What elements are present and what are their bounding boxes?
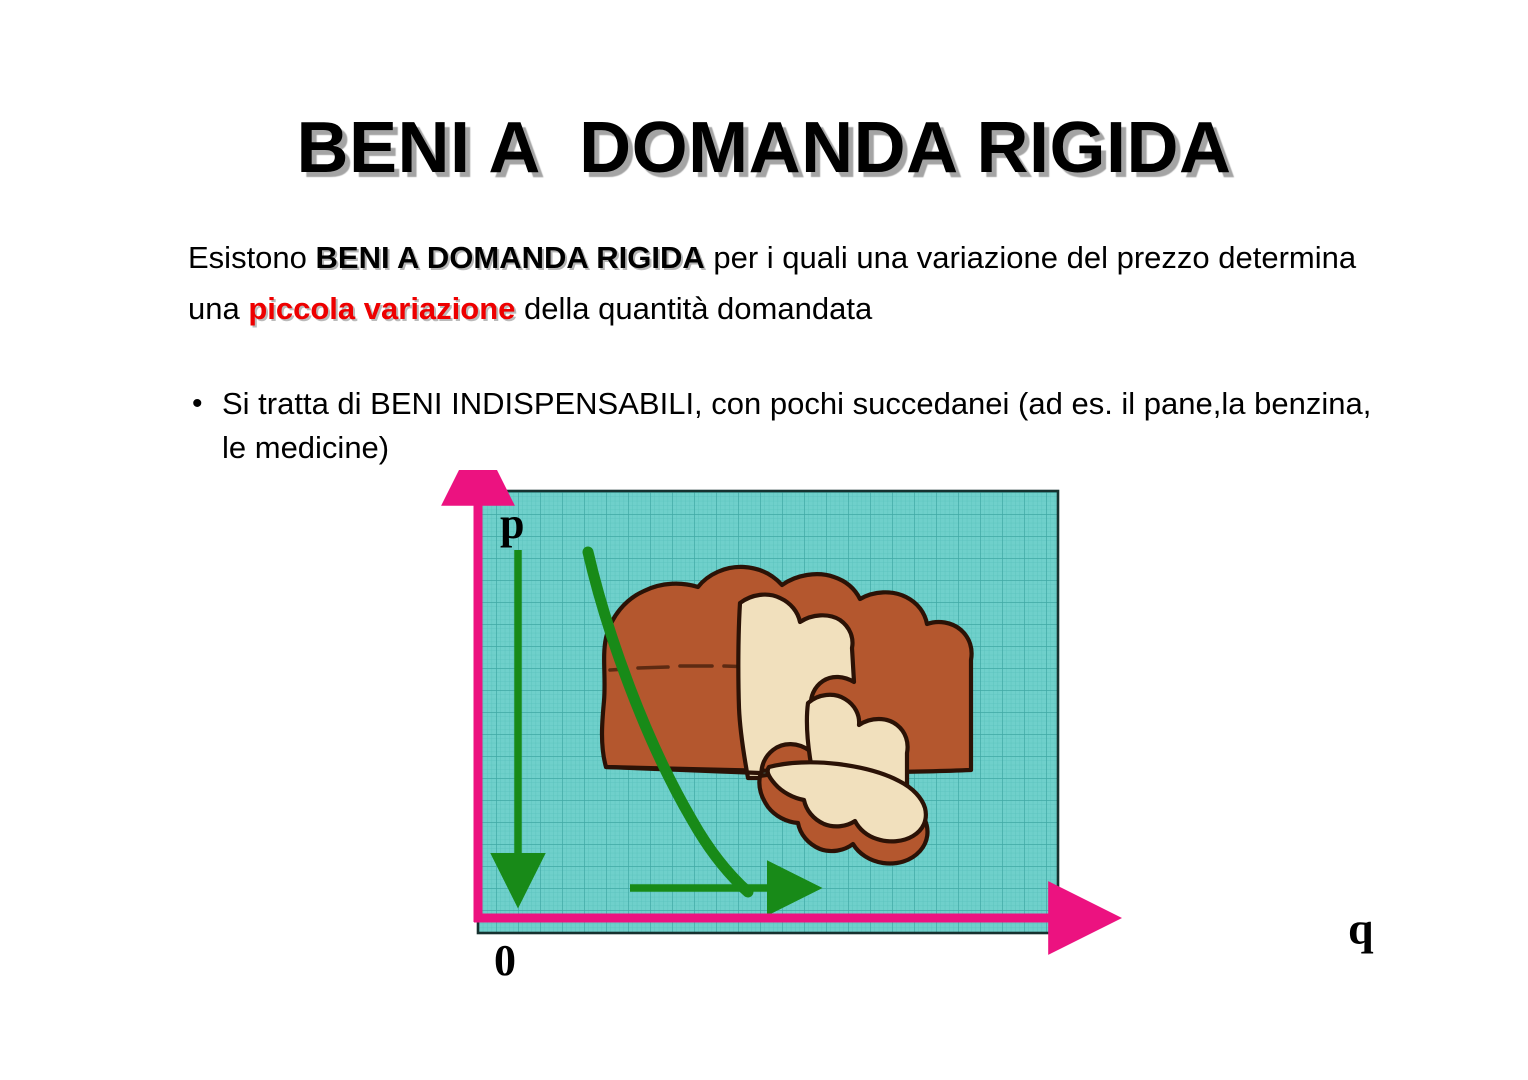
paragraph-lead: Esistono	[188, 240, 316, 275]
page-title: BENI A DOMANDA RIGIDA	[0, 106, 1528, 190]
paragraph-tail: della quantità domandata	[515, 291, 872, 326]
list-item: • Si tratta di BENI INDISPENSABILI, con …	[188, 382, 1388, 470]
body-text-block: Esistono BENI A DOMANDA RIGIDA per i qua…	[188, 232, 1368, 334]
bullet-item-label: Si tratta di BENI INDISPENSABILI, con po…	[222, 382, 1388, 470]
paragraph-emphasis-red: piccola variazione	[248, 291, 515, 326]
x-axis-label: q	[1348, 906, 1374, 952]
origin-label: 0	[494, 936, 516, 985]
y-axis-label: p	[500, 499, 524, 548]
bullet-marker-icon: •	[188, 382, 222, 426]
paragraph-emphasis-bold: BENI A DOMANDA RIGIDA	[316, 240, 705, 275]
intro-paragraph: Esistono BENI A DOMANDA RIGIDA per i qua…	[188, 232, 1368, 334]
demand-curve-figure: p 0	[430, 470, 1130, 990]
